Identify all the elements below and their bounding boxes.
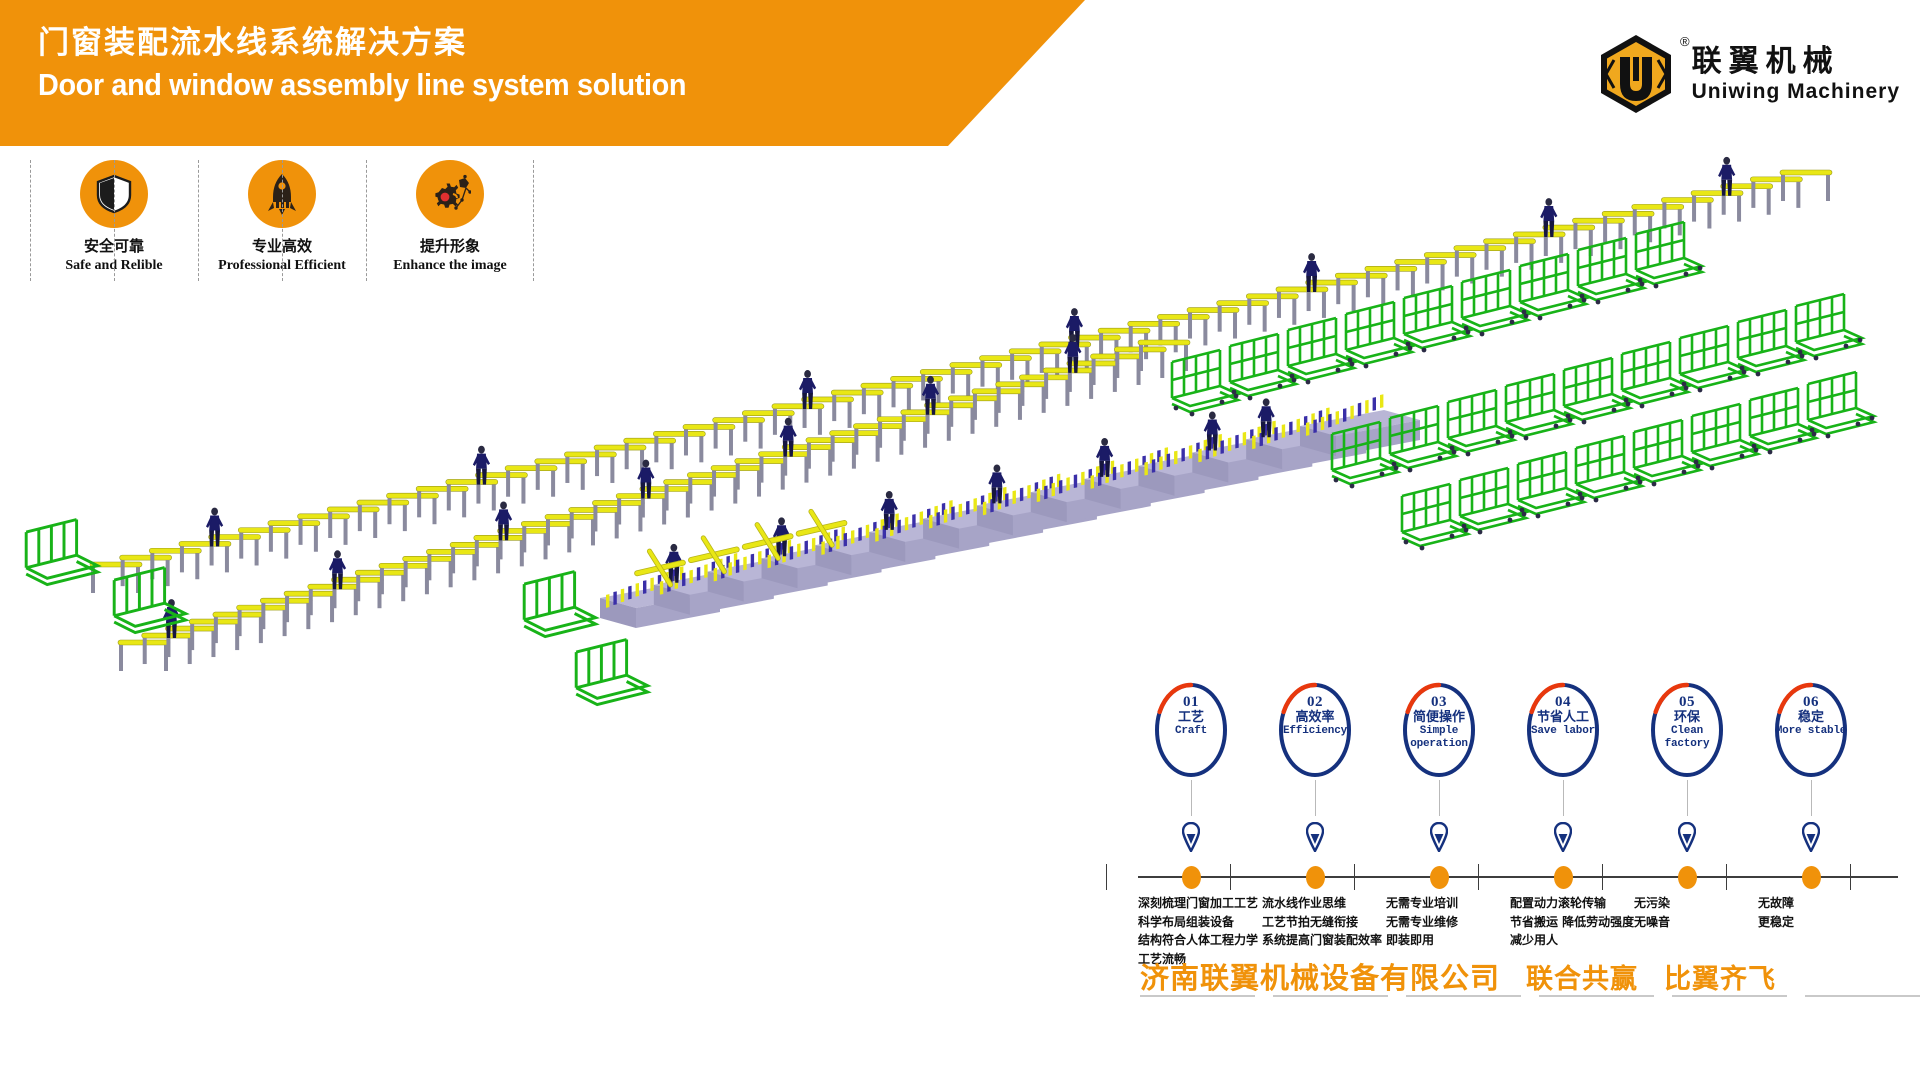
benefit-description-line: 流水线作业思维 <box>1262 894 1382 913</box>
badge-connector <box>1439 780 1440 816</box>
timeline-node[interactable] <box>1306 866 1325 889</box>
badge-connector <box>1191 780 1192 816</box>
slogan-underline <box>1140 995 1255 997</box>
brand-name-cn: 联翼机械 <box>1692 45 1900 78</box>
timeline-node[interactable] <box>1554 866 1573 889</box>
badge-ring-icon <box>1400 680 1478 780</box>
header-title-group: 门窗装配流水线系统解决方案 Door and window assembly l… <box>38 24 735 105</box>
slogan-phrase-2: 比翼齐飞 <box>1664 957 1776 996</box>
axis-tick <box>1354 864 1355 890</box>
slogan-underline <box>1539 995 1654 997</box>
brand-name-en: Uniwing Machinery <box>1692 80 1900 103</box>
timeline-node[interactable] <box>1802 866 1821 889</box>
badge-connector <box>1687 780 1688 816</box>
map-pin-icon <box>1430 822 1448 857</box>
slogan-underline <box>1406 995 1521 997</box>
badge-connector <box>1811 780 1812 816</box>
company-name: 济南联翼机械设备有限公司 <box>1140 955 1500 997</box>
benefit-description-line: 结构符合人体工程力学 <box>1138 931 1258 950</box>
timeline-node[interactable] <box>1182 866 1201 889</box>
axis-tick <box>1850 864 1851 890</box>
map-pin-icon <box>1306 822 1324 857</box>
map-pin-icon <box>1554 822 1572 857</box>
slogan-phrase-1: 联合共赢 <box>1526 957 1638 996</box>
axis-tick <box>1106 864 1107 890</box>
benefit-description-line: 深刻梳理门窗加工工艺 <box>1138 894 1258 913</box>
badge-connector <box>1315 780 1316 816</box>
registered-trademark-icon: ® <box>1680 34 1690 49</box>
benefit-description-line: 系统提高门窗装配效率 <box>1262 931 1382 950</box>
timeline-node[interactable] <box>1678 866 1697 889</box>
benefit-description-04: 配置动力滚轮传输节省搬运 降低劳动强度减少用人 <box>1510 894 1634 950</box>
benefit-description-line: 减少用人 <box>1510 931 1634 950</box>
benefits-timeline: 01工艺Craft02高效率Efficiency03简便操作Simple ope… <box>1138 680 1898 940</box>
benefit-description-line: 即装即用 <box>1386 931 1458 950</box>
benefit-description-line: 科学布局组装设备 <box>1138 913 1258 932</box>
slogan-underline <box>1672 995 1787 997</box>
benefit-description-line: 无故障 <box>1758 894 1794 913</box>
badge-ring-icon <box>1772 680 1850 780</box>
benefit-description-line: 配置动力滚轮传输 <box>1510 894 1634 913</box>
benefit-description-05: 无污染无噪音 <box>1634 894 1670 931</box>
badge-connector <box>1563 780 1564 816</box>
map-pin-icon <box>1182 822 1200 857</box>
benefit-description-line: 更稳定 <box>1758 913 1794 932</box>
timeline-node[interactable] <box>1430 866 1449 889</box>
benefit-badge-06[interactable]: 06稳定More stable <box>1772 680 1850 780</box>
axis-tick <box>1726 864 1727 890</box>
footer-slogan: 济南联翼机械设备有限公司 联合共赢 比翼齐飞 <box>1140 955 1920 997</box>
slogan-underline <box>1273 995 1388 997</box>
timeline-axis <box>1138 876 1898 878</box>
benefit-description-02: 流水线作业思维工艺节拍无缝衔接系统提高门窗装配效率 <box>1262 894 1382 950</box>
benefit-badge-02[interactable]: 02高效率Efficiency <box>1276 680 1354 780</box>
page-title-cn: 门窗装配流水线系统解决方案 <box>38 24 735 63</box>
axis-tick <box>1230 864 1231 890</box>
map-pin-icon <box>1678 822 1696 857</box>
benefit-badge-01[interactable]: 01工艺Craft <box>1152 680 1230 780</box>
benefit-badge-list: 01工艺Craft02高效率Efficiency03简便操作Simple ope… <box>1138 680 1898 788</box>
benefit-badge-05[interactable]: 05环保Clean factory <box>1648 680 1726 780</box>
benefit-description-line: 无需专业培训 <box>1386 894 1458 913</box>
slogan-underline <box>1805 995 1920 997</box>
poster-root: 门窗装配流水线系统解决方案 Door and window assembly l… <box>0 0 1920 1080</box>
header-banner: 门窗装配流水线系统解决方案 Door and window assembly l… <box>0 0 1085 146</box>
badge-ring-icon <box>1276 680 1354 780</box>
hexagon-u-mark-icon: ® <box>1594 32 1678 116</box>
benefit-description-06: 无故障更稳定 <box>1758 894 1794 931</box>
benefit-description-line: 无污染 <box>1634 894 1670 913</box>
page-title-en: Door and window assembly line system sol… <box>38 65 686 105</box>
benefit-description-line: 节省搬运 降低劳动强度 <box>1510 913 1634 932</box>
axis-tick <box>1478 864 1479 890</box>
benefit-description-line: 工艺节拍无缝衔接 <box>1262 913 1382 932</box>
axis-tick <box>1602 864 1603 890</box>
benefit-badge-03[interactable]: 03简便操作Simple operation <box>1400 680 1478 780</box>
brand-logo: ® 联翼机械 Uniwing Machinery <box>1594 32 1900 116</box>
slogan-underline-row <box>1140 995 1920 997</box>
benefit-description-line: 无需专业维修 <box>1386 913 1458 932</box>
benefit-description-03: 无需专业培训无需专业维修即装即用 <box>1386 894 1458 950</box>
benefit-description-line: 无噪音 <box>1634 913 1670 932</box>
map-pin-icon <box>1802 822 1820 857</box>
foreground-carts <box>26 520 647 705</box>
benefit-badge-04[interactable]: 04节省人工Save labor <box>1524 680 1602 780</box>
badge-ring-icon <box>1152 680 1230 780</box>
badge-ring-icon <box>1648 680 1726 780</box>
badge-ring-icon <box>1524 680 1602 780</box>
brand-name-group: 联翼机械 Uniwing Machinery <box>1692 45 1900 103</box>
trolley-groups <box>1172 222 1874 550</box>
